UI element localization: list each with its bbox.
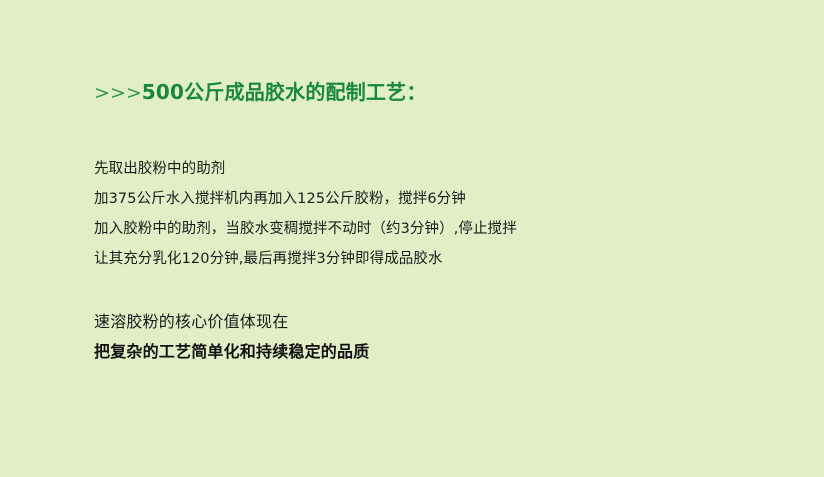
promo-text-page: >>>500公斤成品胶水的配制工艺： 先取出胶粉中的助剂 加375公斤水入搅拌机…: [0, 0, 824, 477]
page-title-text: 500公斤成品胶水的配制工艺：: [142, 80, 427, 104]
list-item: 先取出胶粉中的助剂: [94, 154, 754, 184]
list-item: 加375公斤水入搅拌机内再加入125公斤胶粉，搅拌6分钟: [94, 184, 754, 214]
closing-statement: 速溶胶粉的核心价值体现在 把复杂的工艺简单化和持续稳定的品质: [94, 307, 754, 367]
list-item: 加入胶粉中的助剂，当胶水变稠搅拌不动时（约3分钟）,停止搅拌: [94, 214, 754, 244]
page-title: >>>500公斤成品胶水的配制工艺：: [94, 78, 754, 107]
list-item: 让其充分乳化120分钟,最后再搅拌3分钟即得成品胶水: [94, 244, 754, 274]
closing-line-emphasis: 把复杂的工艺简单化和持续稳定的品质: [94, 337, 754, 367]
procedure-list: 先取出胶粉中的助剂 加375公斤水入搅拌机内再加入125公斤胶粉，搅拌6分钟 加…: [94, 154, 754, 274]
closing-line-normal: 速溶胶粉的核心价值体现在: [94, 307, 754, 337]
content-block: >>>500公斤成品胶水的配制工艺： 先取出胶粉中的助剂 加375公斤水入搅拌机…: [94, 78, 754, 367]
chevron-right-icon: >>>: [94, 82, 142, 104]
